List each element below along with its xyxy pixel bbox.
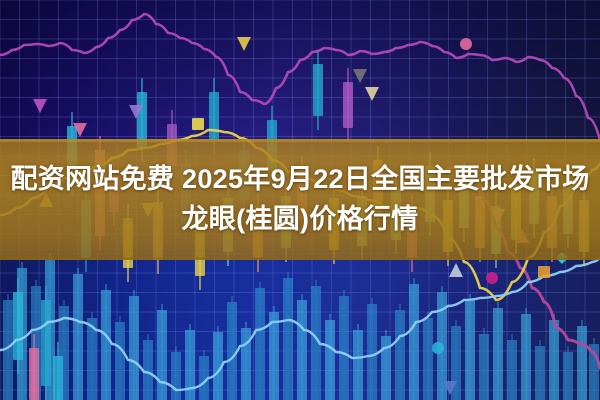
headline-line-1: 配资网站免费 2025年9月22日全国主要批发市场 — [10, 162, 589, 198]
headline-line-2: 龙眼(桂圆)价格行情 — [182, 202, 419, 238]
marker-triangle-down — [237, 37, 251, 51]
banner-image: 配资网站免费 2025年9月22日全国主要批发市场 龙眼(桂圆)价格行情 — [0, 0, 600, 400]
headline-block: 配资网站免费 2025年9月22日全国主要批发市场 龙眼(桂圆)价格行情 — [0, 139, 600, 260]
marker-triangle-down — [353, 69, 367, 83]
marker-circle — [486, 272, 498, 284]
marker-triangle-up — [449, 263, 463, 277]
series-price-line-magenta — [0, 14, 600, 140]
marker-square — [538, 266, 550, 278]
marker-triangle-down — [365, 87, 379, 101]
marker-circle — [460, 38, 472, 50]
marker-square — [192, 118, 204, 130]
marker-triangle-down — [33, 99, 47, 113]
marker-circle — [432, 342, 444, 354]
